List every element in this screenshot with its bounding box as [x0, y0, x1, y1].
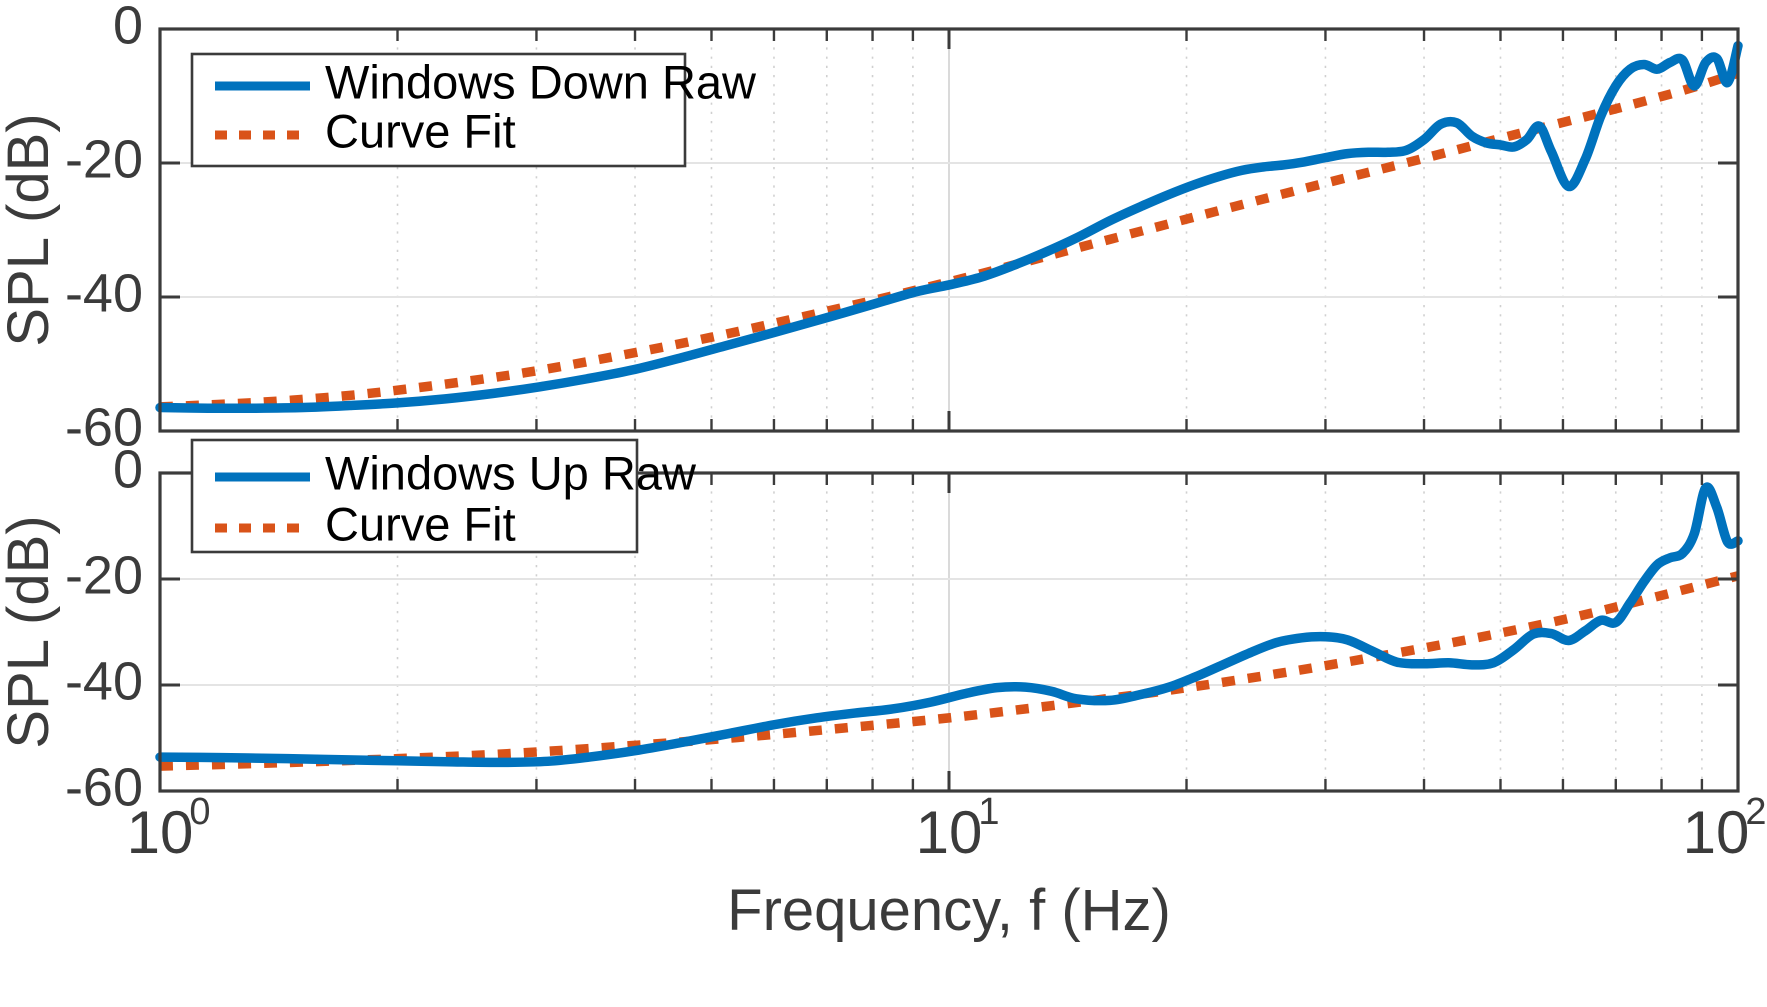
xtick-label-2-base: 10: [916, 799, 983, 866]
bottom-legend-label-raw: Windows Up Raw: [325, 446, 697, 499]
xtick-label-3-exponent: 2: [1745, 791, 1766, 833]
bottom-legend-label-fit: Curve Fit: [325, 497, 516, 550]
top-ytick-label-0: 0: [113, 0, 143, 55]
top-legend-label-fit: Curve Fit: [325, 104, 516, 157]
bottom-ytick-label-minus40: -40: [65, 651, 143, 711]
spl-frequency-figure: 0 -20 -40 -60 SPL (dB) Windows Down Raw …: [0, 0, 1767, 1007]
xtick-label-1-base: 10: [127, 799, 194, 866]
bottom-ytick-label-minus20: -20: [65, 545, 143, 605]
xtick-label-3-base: 10: [1683, 799, 1750, 866]
top-legend-label-raw: Windows Down Raw: [325, 55, 757, 108]
top-y-axis-title: SPL (dB): [0, 113, 61, 346]
bottom-y-axis-title: SPL (dB): [0, 515, 61, 748]
bottom-legend[interactable]: Windows Up Raw Curve Fit: [192, 440, 697, 552]
top-legend[interactable]: Windows Down Raw Curve Fit: [192, 54, 757, 166]
x-axis-title: Frequency, f (Hz): [727, 878, 1171, 943]
top-ytick-label-minus40: -40: [65, 263, 143, 323]
top-ytick-label-minus20: -20: [65, 129, 143, 189]
xtick-label-1-exponent: 0: [189, 791, 210, 833]
bottom-ytick-label-0: 0: [113, 439, 143, 499]
xtick-label-2-exponent: 1: [978, 791, 999, 833]
